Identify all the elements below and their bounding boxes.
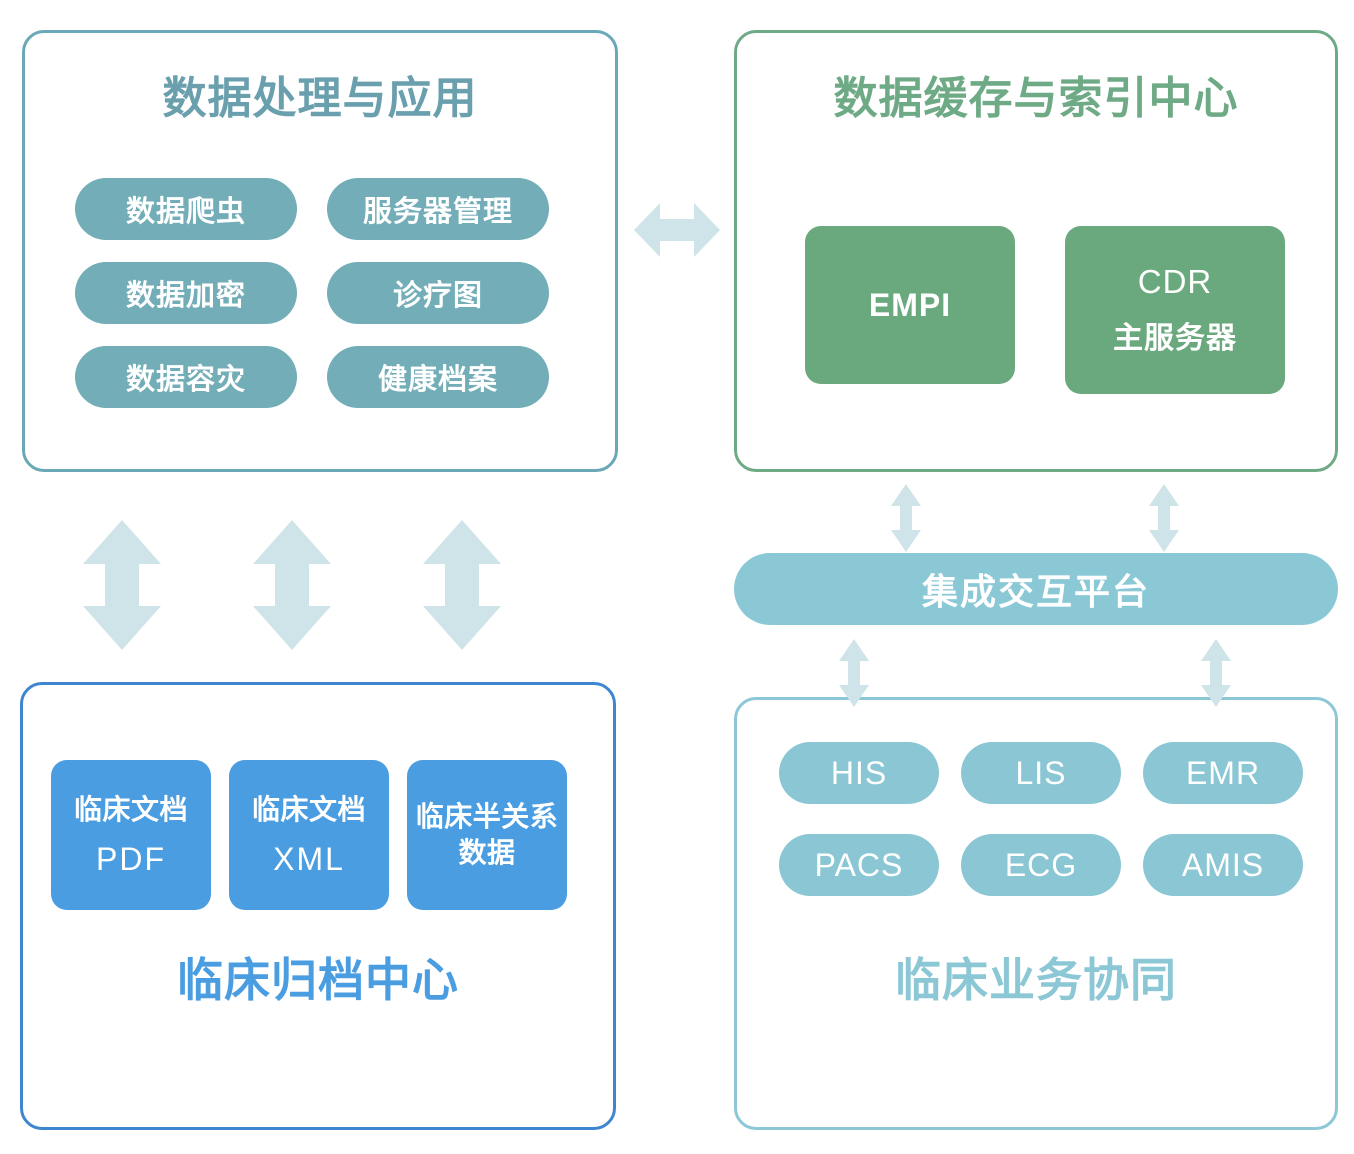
pill-data-encryption[interactable]: 数据加密	[75, 262, 297, 324]
pill-ecg[interactable]: ECG	[961, 834, 1121, 896]
card-semi-relational-label: 临床半关系数据	[413, 799, 561, 872]
panel-clinical-business: HIS LIS EMR PACS ECG AMIS 临床业务协同	[734, 697, 1338, 1130]
double-arrow-horizontal-center	[634, 195, 720, 265]
double-arrow-vertical-left-2	[252, 520, 332, 650]
panel-data-cache-index: 数据缓存与索引中心 EMPI CDR 主服务器	[734, 30, 1338, 472]
double-arrow-vertical-platform-to-business-2	[1200, 639, 1232, 707]
card-xml-label: 临床文档	[252, 792, 366, 827]
panel-clinical-archive: 临床文档 PDF 临床文档 XML 临床半关系数据 临床归档中心	[20, 682, 616, 1130]
panel-title-clinical-archive: 临床归档中心	[23, 955, 613, 1006]
data-processing-item-grid: 数据爬虫 服务器管理 数据加密 诊疗图 数据容灾 健康档案	[75, 178, 571, 408]
clinical-document-card-row: 临床文档 PDF 临床文档 XML 临床半关系数据	[51, 760, 567, 910]
card-clinical-document-xml[interactable]: 临床文档 XML	[229, 760, 389, 910]
pill-server-management[interactable]: 服务器管理	[327, 178, 549, 240]
card-clinical-semi-relational-data[interactable]: 临床半关系数据	[407, 760, 567, 910]
pill-health-record[interactable]: 健康档案	[327, 346, 549, 408]
integration-platform-bar[interactable]: 集成交互平台	[734, 553, 1338, 625]
box-cdr-sublabel: 主服务器	[1113, 313, 1237, 357]
pill-his[interactable]: HIS	[779, 742, 939, 804]
panel-data-processing: 数据处理与应用 数据爬虫 服务器管理 数据加密 诊疗图 数据容灾 健康档案	[22, 30, 618, 472]
panel-title-data-processing: 数据处理与应用	[25, 75, 615, 123]
card-xml-format: XML	[273, 841, 345, 878]
box-empi[interactable]: EMPI	[805, 226, 1015, 384]
card-clinical-document-pdf[interactable]: 临床文档 PDF	[51, 760, 211, 910]
box-cdr-label: CDR	[1138, 263, 1213, 301]
double-arrow-vertical-platform-to-business-1	[838, 639, 870, 707]
card-pdf-format: PDF	[96, 841, 166, 878]
double-arrow-vertical-cache-to-platform-1	[890, 484, 922, 552]
clinical-system-grid: HIS LIS EMR PACS ECG AMIS	[779, 742, 1303, 896]
panel-title-clinical-business: 临床业务协同	[737, 955, 1335, 1006]
pill-emr[interactable]: EMR	[1143, 742, 1303, 804]
pill-amis[interactable]: AMIS	[1143, 834, 1303, 896]
pill-data-crawler[interactable]: 数据爬虫	[75, 178, 297, 240]
box-cdr-main-server[interactable]: CDR 主服务器	[1065, 226, 1285, 394]
double-arrow-vertical-cache-to-platform-2	[1148, 484, 1180, 552]
pill-lis[interactable]: LIS	[961, 742, 1121, 804]
double-arrow-vertical-left-3	[422, 520, 502, 650]
box-empi-label: EMPI	[869, 287, 951, 324]
pill-diagnosis-chart[interactable]: 诊疗图	[327, 262, 549, 324]
double-arrow-vertical-left-1	[82, 520, 162, 650]
cache-box-row: EMPI CDR 主服务器	[737, 33, 1335, 469]
card-pdf-label: 临床文档	[74, 792, 188, 827]
diagram-canvas: 数据处理与应用 数据爬虫 服务器管理 数据加密 诊疗图 数据容灾 健康档案 数据…	[0, 0, 1354, 1154]
pill-disaster-recovery[interactable]: 数据容灾	[75, 346, 297, 408]
pill-pacs[interactable]: PACS	[779, 834, 939, 896]
